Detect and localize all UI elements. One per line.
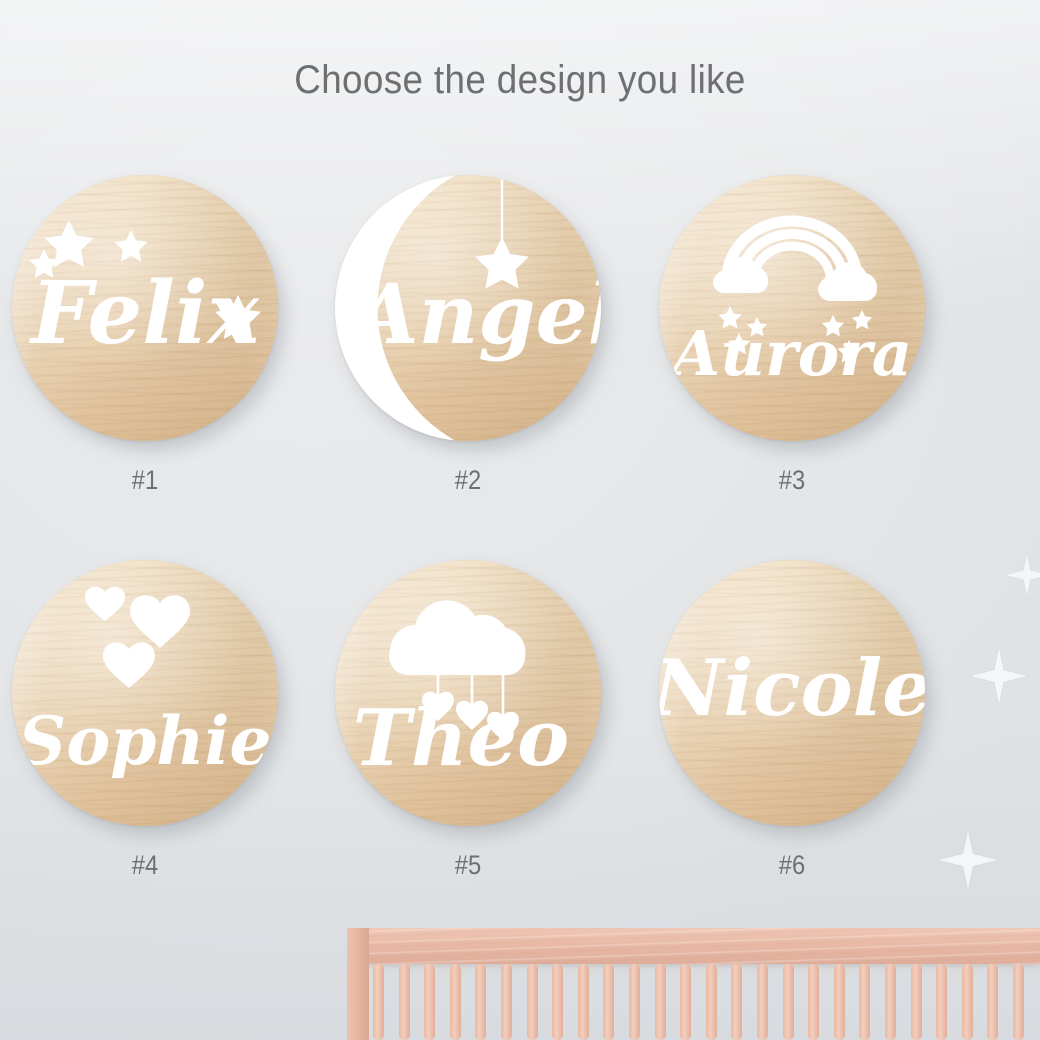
wood-disc-6[interactable]: Nicole bbox=[659, 560, 925, 826]
wall-star-bottom-icon bbox=[936, 828, 1000, 892]
design-artwork-felix: Felix bbox=[12, 175, 278, 441]
cloud-icon bbox=[389, 600, 525, 675]
wood-disc-5[interactable]: Theo bbox=[335, 560, 601, 826]
disc-name-4: Sophie bbox=[19, 702, 272, 780]
heart-icons bbox=[85, 587, 190, 688]
crib-slat bbox=[552, 964, 563, 1040]
crib-slat bbox=[834, 964, 845, 1040]
crib-slat bbox=[859, 964, 870, 1040]
design-label-4: #4 bbox=[28, 850, 262, 881]
crib-slat bbox=[527, 964, 538, 1040]
page-title: Choose the design you like bbox=[42, 58, 999, 103]
design-card-5[interactable]: Theo #5 bbox=[335, 560, 601, 826]
design-card-3[interactable]: Aurora #3 bbox=[659, 175, 925, 441]
design-card-2[interactable]: Angel #2 bbox=[335, 175, 601, 441]
crib-slat bbox=[475, 964, 486, 1040]
wall-shading bbox=[0, 0, 1040, 1040]
crib-slat bbox=[399, 964, 410, 1040]
disc-name-5: Theo bbox=[353, 693, 569, 784]
crib-slat bbox=[731, 964, 742, 1040]
crib-slat bbox=[808, 964, 819, 1040]
nursery-scene: Choose the design you like Felix bbox=[0, 0, 1040, 1040]
design-artwork-nicole: Nicole bbox=[659, 560, 925, 826]
crib-slat bbox=[911, 964, 922, 1040]
crib-slat bbox=[680, 964, 691, 1040]
wood-disc-2[interactable]: Angel bbox=[335, 175, 601, 441]
design-card-1[interactable]: Felix #1 bbox=[12, 175, 278, 441]
crib-slat bbox=[962, 964, 973, 1040]
disc-name-1: Felix bbox=[28, 263, 260, 364]
crib-slat bbox=[603, 964, 614, 1040]
design-label-2: #2 bbox=[351, 465, 585, 496]
design-label-1: #1 bbox=[28, 465, 262, 496]
design-card-4[interactable]: Sophie #4 bbox=[12, 560, 278, 826]
crib-slat bbox=[1013, 964, 1024, 1040]
cloud-icons bbox=[713, 257, 877, 301]
design-artwork-sophie: Sophie bbox=[12, 560, 278, 826]
crib-slat bbox=[987, 964, 998, 1040]
crib-slat bbox=[373, 964, 384, 1040]
crib-slat bbox=[450, 964, 461, 1040]
crib-slat bbox=[578, 964, 589, 1040]
crib-top-rail bbox=[347, 928, 1040, 964]
wood-disc-4[interactable]: Sophie bbox=[12, 560, 278, 826]
design-artwork-theo: Theo bbox=[335, 560, 601, 826]
crib-slat bbox=[783, 964, 794, 1040]
wall-star-middle-icon bbox=[968, 645, 1030, 707]
wood-disc-3[interactable]: Aurora bbox=[659, 175, 925, 441]
crib-slat bbox=[706, 964, 717, 1040]
crib-slat bbox=[936, 964, 947, 1040]
wall-star-top-icon bbox=[1004, 552, 1040, 598]
design-label-6: #6 bbox=[675, 850, 909, 881]
design-artwork-angel: Angel bbox=[335, 175, 601, 441]
design-artwork-aurora: Aurora bbox=[659, 175, 925, 441]
disc-name-3: Aurora bbox=[667, 317, 912, 390]
wood-disc-1[interactable]: Felix bbox=[12, 175, 278, 441]
crib-slat bbox=[757, 964, 768, 1040]
design-card-6[interactable]: Nicole #6 bbox=[659, 560, 925, 826]
crib-slat bbox=[501, 964, 512, 1040]
baby-crib bbox=[347, 928, 1040, 1040]
crib-corner-post bbox=[347, 928, 369, 1040]
disc-name-2: Angel bbox=[348, 267, 601, 363]
crib-slat bbox=[629, 964, 640, 1040]
disc-name-6: Nicole bbox=[659, 643, 925, 734]
design-label-3: #3 bbox=[675, 465, 909, 496]
crib-slat bbox=[655, 964, 666, 1040]
design-label-5: #5 bbox=[351, 850, 585, 881]
crib-slat bbox=[424, 964, 435, 1040]
crib-slat bbox=[885, 964, 896, 1040]
